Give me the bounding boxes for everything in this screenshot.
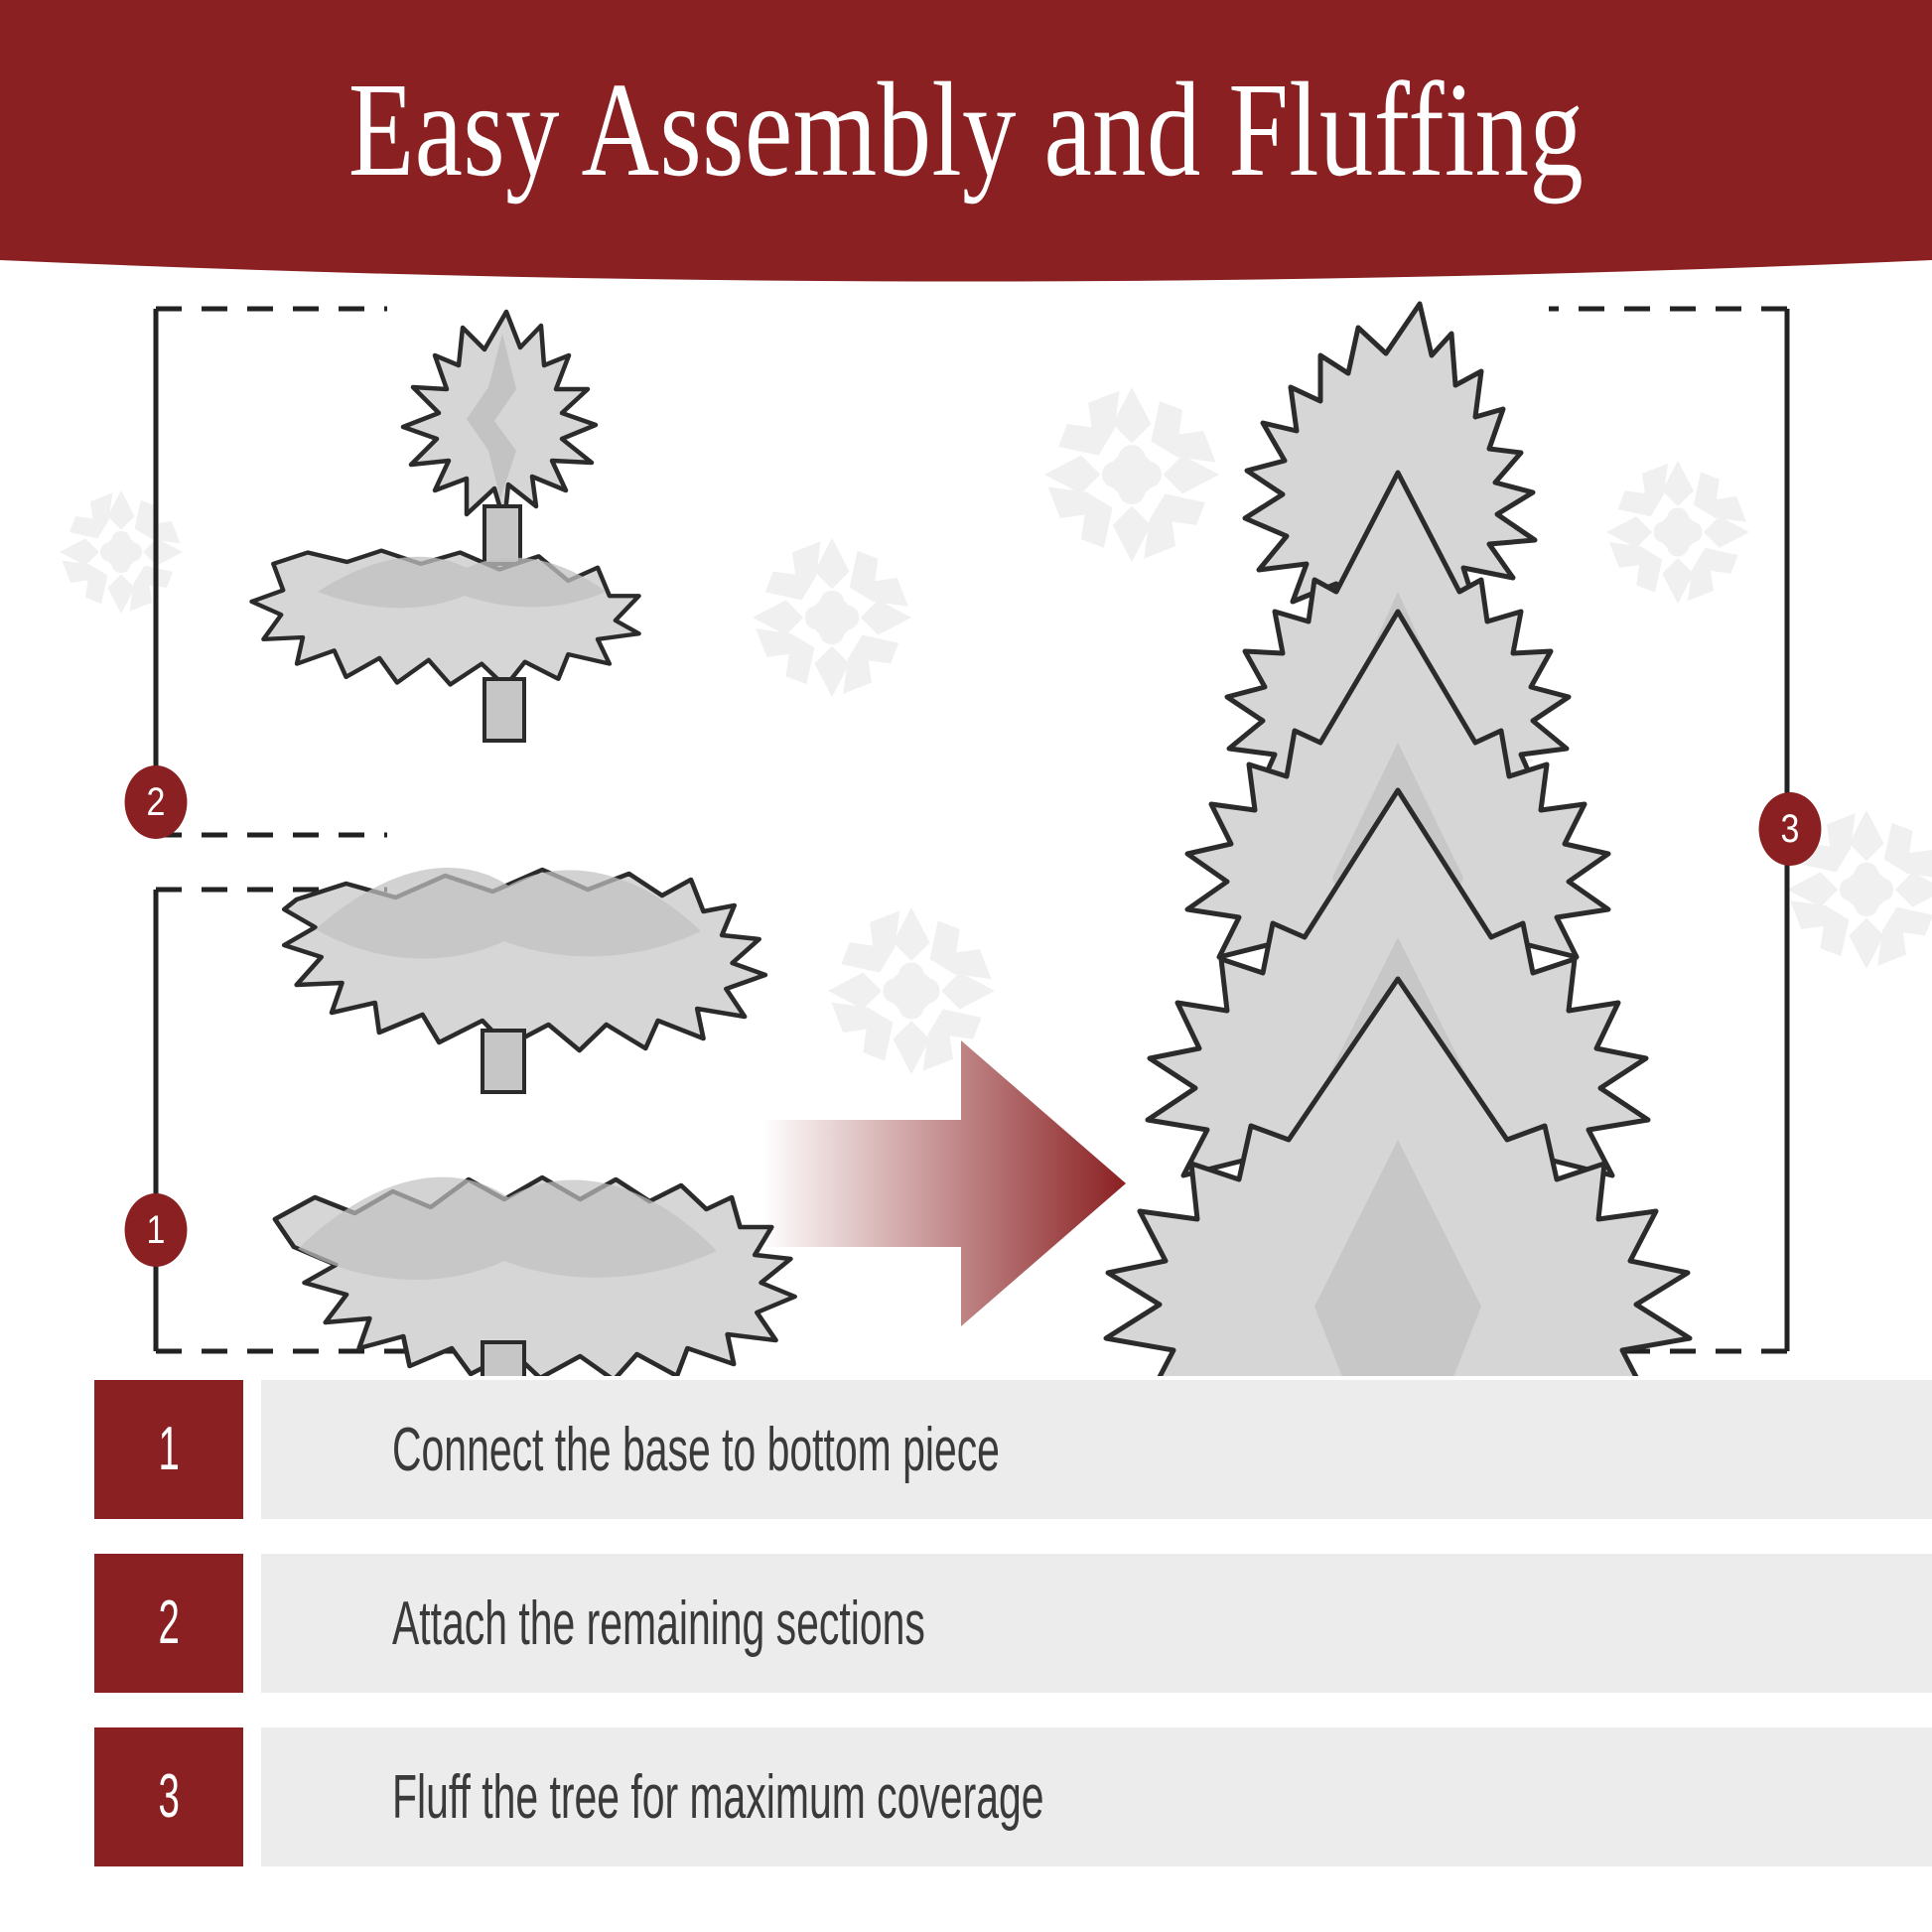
assembly-diagram: 2 1 3: [0, 294, 1932, 1376]
tree-section-top: [403, 312, 596, 564]
bracket-badge-1: 1: [125, 1193, 188, 1267]
legend-number-2: 2: [94, 1554, 243, 1693]
header-banner: Easy Assembly and Fluffing: [0, 0, 1932, 298]
legend-row-1: 1 Connect the base to bottom piece: [94, 1380, 1932, 1519]
tree-section-lower-middle: [284, 868, 765, 1092]
tree-section-upper-middle: [252, 551, 639, 741]
legend-text-1: Connect the base to bottom piece: [261, 1415, 1000, 1485]
legend-number-1-label: 1: [158, 1419, 179, 1480]
bracket-badge-2-label: 2: [147, 782, 166, 822]
legend-bar-1: Connect the base to bottom piece: [261, 1380, 1932, 1519]
legend-number-3: 3: [94, 1727, 243, 1866]
legend-text-3: Fluff the tree for maximum coverage: [261, 1762, 1044, 1833]
transition-arrow: [762, 1040, 1126, 1326]
page-title: Easy Assembly and Fluffing: [194, 0, 1739, 260]
diagram-graphics: [0, 294, 1932, 1376]
bracket-badge-3: 3: [1759, 792, 1822, 866]
legend-text-2: Attach the remaining sections: [261, 1588, 925, 1659]
legend-row-2: 2 Attach the remaining sections: [94, 1554, 1932, 1693]
legend-number-1: 1: [94, 1380, 243, 1519]
bracket-badge-1-label: 1: [147, 1210, 166, 1250]
steps-legend: 1 Connect the base to bottom piece 2 Att…: [0, 1380, 1932, 1901]
legend-number-3-label: 3: [158, 1766, 179, 1828]
infographic-root: Easy Assembly and Fluffing: [0, 0, 1932, 1932]
tree-section-bottom: [275, 1177, 795, 1376]
legend-number-2-label: 2: [158, 1592, 179, 1654]
legend-bar-2: Attach the remaining sections: [261, 1554, 1932, 1693]
bracket-badge-3-label: 3: [1781, 809, 1800, 849]
legend-row-3: 3 Fluff the tree for maximum coverage: [94, 1727, 1932, 1866]
bracket-badge-2: 2: [125, 765, 188, 839]
legend-bar-3: Fluff the tree for maximum coverage: [261, 1727, 1932, 1866]
